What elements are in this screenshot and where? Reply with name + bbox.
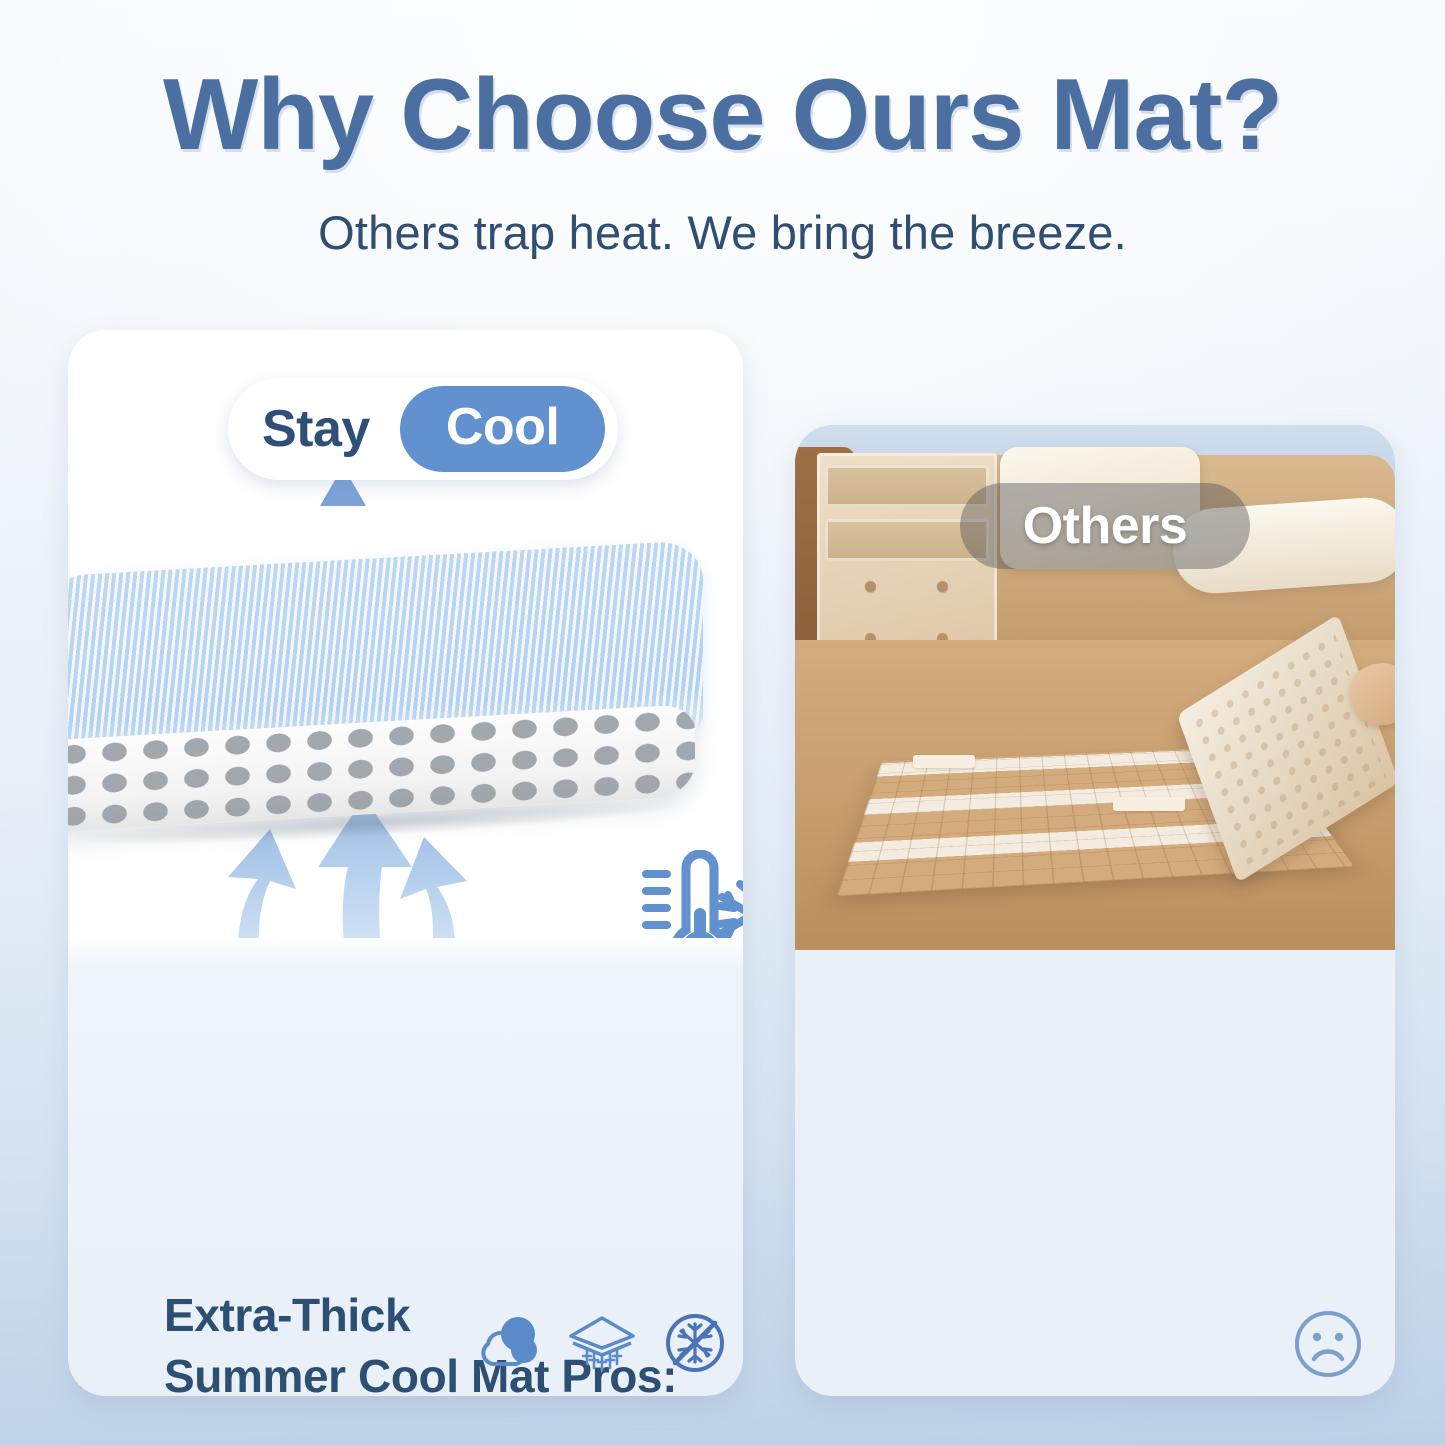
others-label: Others [1023,496,1188,556]
feature-icons-group [478,1312,726,1379]
others-overlay-badge: Others [960,483,1250,569]
cons-card: Others Think Mat Cons: × Poor Protection… [795,425,1395,1396]
badge-prefix-label: Stay [262,399,370,459]
cloud-soft-icon [478,1314,540,1377]
anti-bacterial-icon [664,1312,726,1379]
badge-pill-label: Cool [400,386,606,472]
infographic-root: Why Choose Ours Mat? Others trap heat. W… [0,0,1445,1445]
page-title: Why Choose Ours Mat? [0,62,1445,168]
mat-label-tag [1113,797,1185,811]
pros-card: Extra-Thick Summer Cool Mat Pros: · Bett… [68,330,743,1396]
sad-face-icon [1292,1308,1364,1385]
thermometer-snowflake-icon [624,850,743,938]
page-subtitle: Others trap heat. We bring the breeze. [0,205,1445,260]
airflow-arrow-right [382,835,477,938]
product-photo-others: Others [795,425,1395,950]
mat-label-tag [913,755,975,768]
stay-cool-badge[interactable]: Stay Cool [228,378,618,480]
breathable-layers-icon [567,1314,637,1377]
